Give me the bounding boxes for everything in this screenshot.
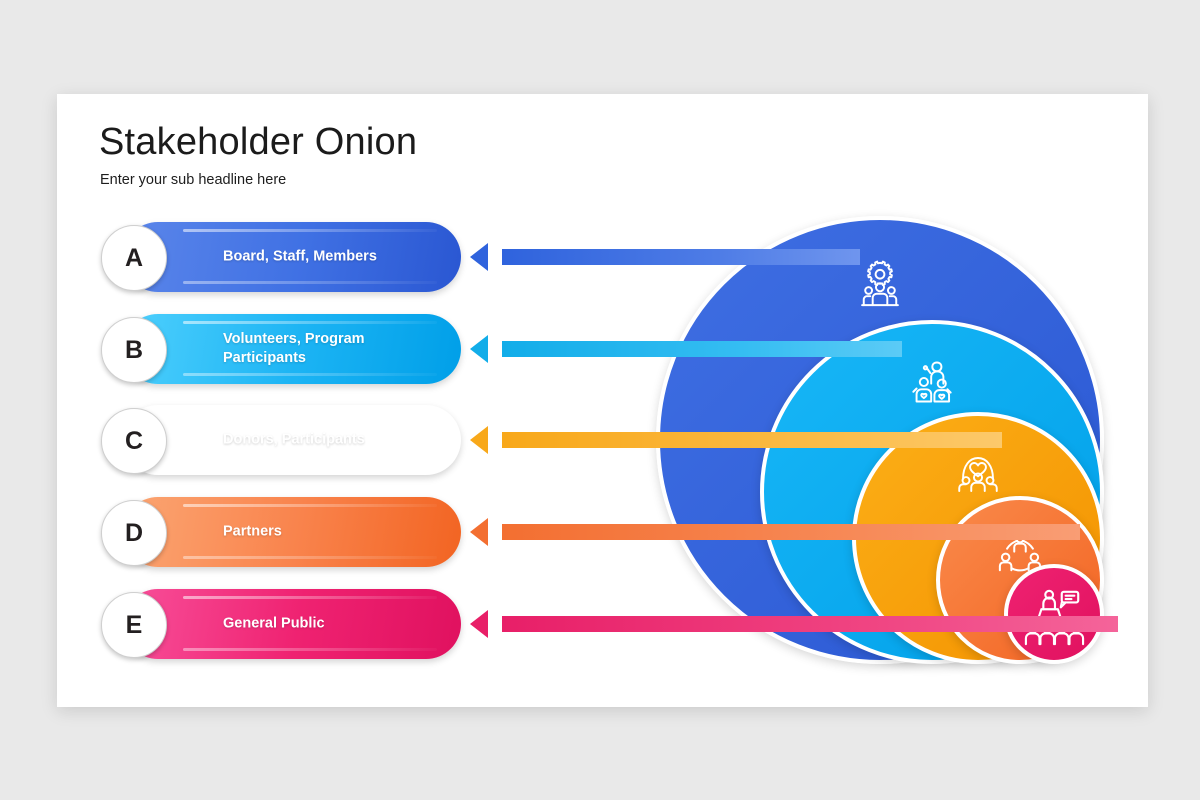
arrow-a (470, 242, 860, 272)
gear-team-icon (854, 258, 906, 310)
letter-badge-c[interactable]: C (101, 408, 167, 474)
pill-gloss-bottom (183, 464, 437, 467)
pill-b[interactable]: Volunteers, Program Participants (123, 314, 461, 384)
pill-gloss-top (183, 321, 437, 324)
letter-badge-d[interactable]: D (101, 500, 167, 566)
arrow-head-c-icon (470, 425, 504, 455)
pill-gloss-bottom (183, 373, 437, 376)
arrow-shaft-d (502, 524, 1080, 540)
pill-gloss-top (183, 229, 437, 232)
letter-badge-a[interactable]: A (101, 225, 167, 291)
volunteers-hearts-icon (906, 356, 958, 408)
arrow-shaft-e (502, 616, 1118, 632)
pill-gloss-top (183, 412, 437, 415)
pill-gloss-bottom (183, 281, 437, 284)
pill-label-d: Partners (223, 522, 441, 541)
letter-badge-b[interactable]: B (101, 317, 167, 383)
pill-label-c: Donors, Participants (223, 430, 441, 449)
arrow-head-b-icon (470, 334, 504, 364)
letter-badge-e[interactable]: E (101, 592, 167, 658)
arrow-shaft-b (502, 341, 902, 357)
arrow-e (470, 609, 1118, 639)
arrow-head-e-icon (470, 609, 504, 639)
pill-gloss-top (183, 596, 437, 599)
arrow-d (470, 517, 1080, 547)
arrow-shaft-a (502, 249, 860, 265)
arrow-b (470, 334, 902, 364)
pill-d[interactable]: Partners (123, 497, 461, 567)
arrow-head-a-icon (470, 242, 504, 272)
pill-e[interactable]: General Public (123, 589, 461, 659)
pill-gloss-bottom (183, 648, 437, 651)
arrow-c (470, 425, 1002, 455)
pill-gloss-bottom (183, 556, 437, 559)
pill-gloss-top (183, 504, 437, 507)
arrow-shaft-c (502, 432, 1002, 448)
pill-label-e: General Public (223, 614, 441, 633)
pill-c[interactable]: Donors, Participants (123, 405, 461, 475)
pill-label-a: Board, Staff, Members (223, 247, 441, 266)
pill-label-b: Volunteers, Program Participants (223, 330, 393, 368)
slide-card: Stakeholder Onion Enter your sub headlin… (57, 94, 1148, 707)
pill-a[interactable]: Board, Staff, Members (123, 222, 461, 292)
arrow-head-d-icon (470, 517, 504, 547)
